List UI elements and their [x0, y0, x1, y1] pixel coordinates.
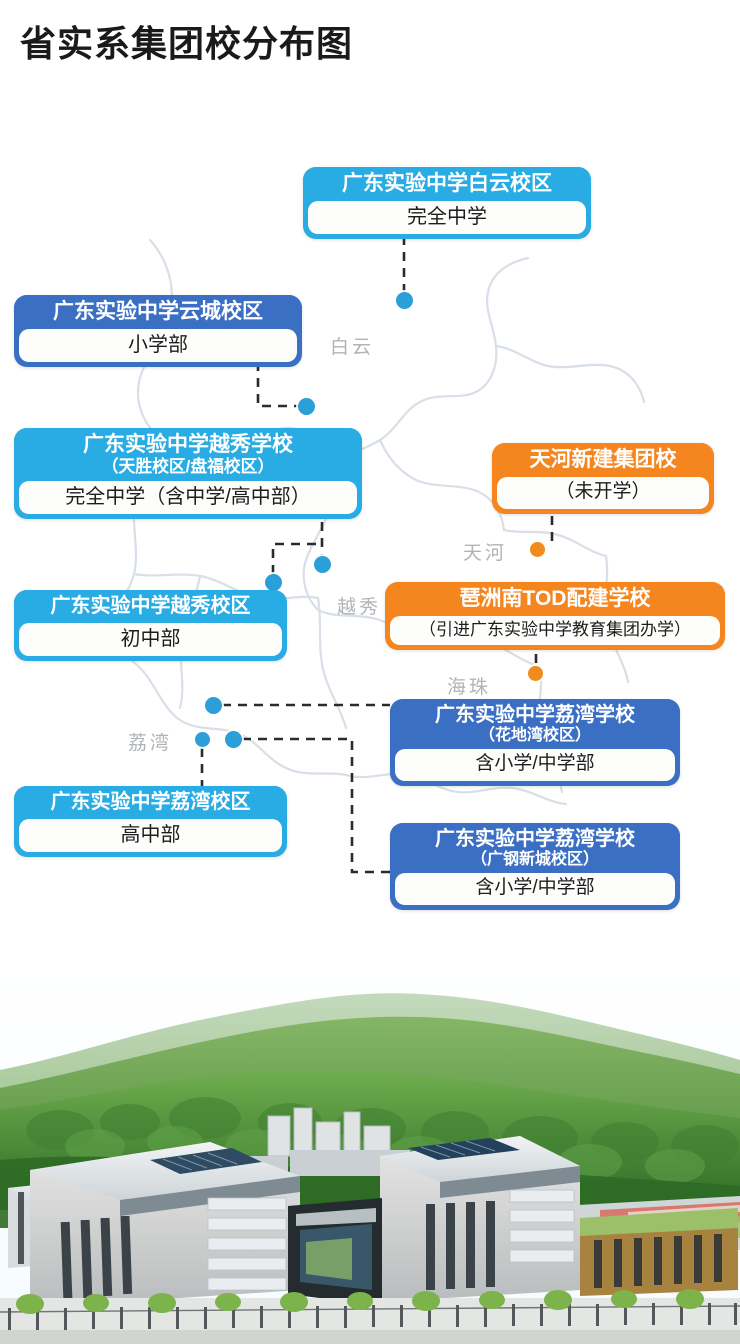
map-dot-pazhou-tod[interactable]	[528, 666, 543, 681]
page-title: 省实系集团校分布图	[20, 22, 353, 65]
card-tianhe-new[interactable]: 天河新建集团校 （未开学）	[492, 443, 714, 514]
map-dot-liwan-campus[interactable]	[195, 732, 210, 747]
card-tianhe-new-title-text: 天河新建集团校	[530, 448, 677, 471]
card-yuexiu-school-title: 广东实验中学越秀学校 （天胜校区/盘福校区）	[14, 428, 362, 481]
card-yuncheng-title: 广东实验中学云城校区	[14, 295, 302, 329]
card-yuncheng[interactable]: 广东实验中学云城校区 小学部	[14, 295, 302, 367]
card-yuexiu-campus[interactable]: 广东实验中学越秀校区 初中部	[14, 590, 287, 661]
card-liwan-gangang-detail: 含小学/中学部	[395, 873, 675, 905]
district-label-yuexiu: 越秀	[337, 592, 381, 619]
card-yuexiu-school-detail: 完全中学（含中学/高中部）	[19, 481, 357, 514]
district-label-haizhu: 海珠	[447, 672, 491, 699]
card-baiyun-title-text: 广东实验中学白云校区	[342, 172, 552, 195]
card-yuexiu-school-title-text: 广东实验中学越秀学校	[83, 433, 293, 456]
map-dot-liwan-gangang[interactable]	[225, 731, 242, 748]
card-liwan-gangang-title: 广东实验中学荔湾学校 （广钢新城校区）	[390, 823, 680, 873]
map-dot-yuncheng-campus[interactable]	[298, 398, 315, 415]
card-yuncheng-title-text: 广东实验中学云城校区	[53, 300, 263, 323]
card-pazhou-tod[interactable]: 琶洲南TOD配建学校 （引进广东实验中学教育集团办学）	[385, 582, 725, 650]
card-liwan-huadiwan[interactable]: 广东实验中学荔湾学校 （花地湾校区） 含小学/中学部	[390, 699, 680, 786]
card-liwan-huadiwan-title-text: 广东实验中学荔湾学校	[435, 704, 635, 726]
district-label-tianhe: 天河	[463, 538, 507, 565]
card-liwan-campus-title-text: 广东实验中学荔湾校区	[51, 791, 251, 813]
card-yuexiu-school-subtitle: （天胜校区/盘福校区）	[24, 457, 352, 477]
district-label-liwan: 荔湾	[128, 728, 172, 755]
card-yuexiu-school[interactable]: 广东实验中学越秀学校 （天胜校区/盘福校区） 完全中学（含中学/高中部）	[14, 428, 362, 519]
infographic-root: 省实系集团校分布图	[0, 0, 740, 1344]
map-dot-tianhe-new[interactable]	[530, 542, 545, 557]
card-yuncheng-detail: 小学部	[19, 329, 297, 362]
card-baiyun[interactable]: 广东实验中学白云校区 完全中学	[303, 167, 591, 239]
card-liwan-gangang-subtitle: （广钢新城校区）	[400, 851, 670, 870]
card-yuexiu-campus-title: 广东实验中学越秀校区	[14, 590, 287, 623]
card-liwan-gangang-title-text: 广东实验中学荔湾学校	[435, 828, 635, 850]
card-tianhe-new-title: 天河新建集团校	[492, 443, 714, 477]
card-liwan-huadiwan-detail: 含小学/中学部	[395, 749, 675, 781]
campus-photo	[0, 960, 740, 1344]
card-tianhe-new-detail: （未开学）	[497, 477, 709, 509]
card-liwan-huadiwan-title: 广东实验中学荔湾学校 （花地湾校区）	[390, 699, 680, 749]
card-baiyun-detail: 完全中学	[308, 201, 586, 234]
card-pazhou-tod-title: 琶洲南TOD配建学校	[385, 582, 725, 616]
card-baiyun-title: 广东实验中学白云校区	[303, 167, 591, 201]
card-liwan-campus-title: 广东实验中学荔湾校区	[14, 786, 287, 819]
card-yuexiu-campus-title-text: 广东实验中学越秀校区	[51, 595, 251, 617]
campus-photo-illustration	[0, 960, 740, 1344]
card-pazhou-tod-detail: （引进广东实验中学教育集团办学）	[390, 616, 720, 645]
card-liwan-campus-detail: 高中部	[19, 819, 282, 852]
map-area: 白云 天河 越秀 海珠 荔湾 广东实验中学白云校区 完全中学 广东实验中学云城校…	[0, 110, 740, 930]
map-dot-baiyun-campus[interactable]	[396, 292, 413, 309]
card-yuexiu-campus-detail: 初中部	[19, 623, 282, 656]
district-label-baiyun: 白云	[330, 332, 374, 359]
map-dot-liwan-huadiwan[interactable]	[205, 697, 222, 714]
card-liwan-huadiwan-subtitle: （花地湾校区）	[400, 727, 670, 746]
card-liwan-campus[interactable]: 广东实验中学荔湾校区 高中部	[14, 786, 287, 857]
map-dot-yuexiu-school[interactable]	[314, 556, 331, 573]
card-pazhou-tod-title-text: 琶洲南TOD配建学校	[460, 587, 651, 610]
card-liwan-gangang[interactable]: 广东实验中学荔湾学校 （广钢新城校区） 含小学/中学部	[390, 823, 680, 910]
map-dot-yuexiu-campus[interactable]	[265, 574, 282, 591]
